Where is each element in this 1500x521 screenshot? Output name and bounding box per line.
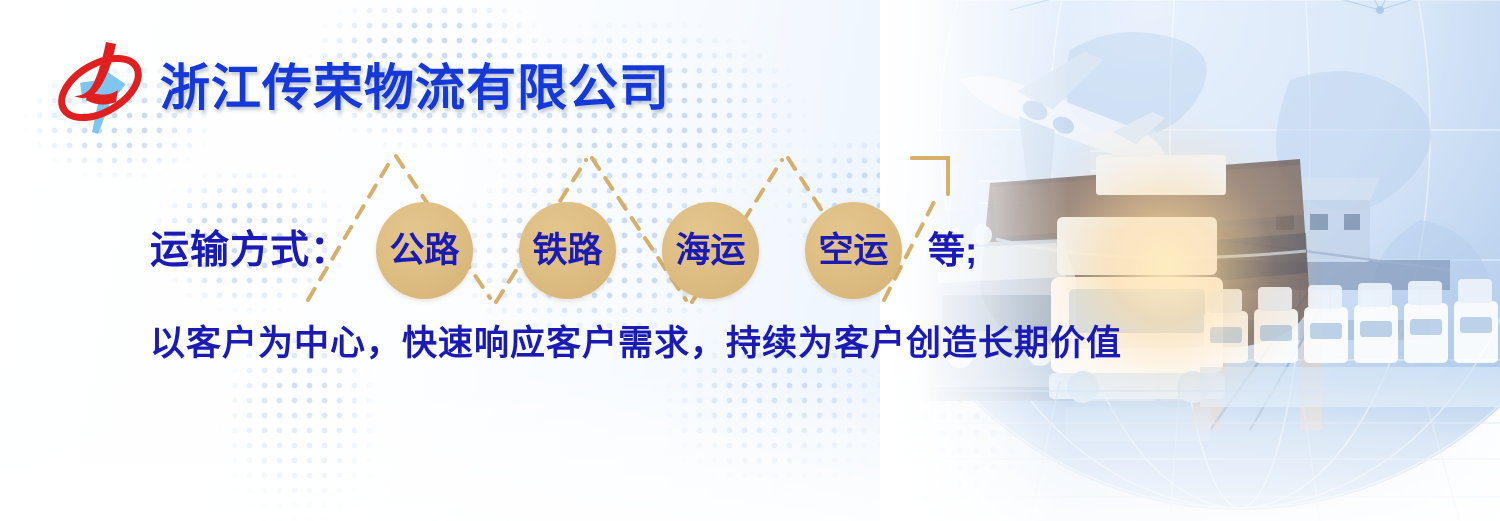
mode-circle-sea[interactable]: 海运 — [662, 202, 759, 299]
transport-circles: 公路 铁路 海运 空运 — [376, 202, 902, 299]
ground-grid-icon — [880, 351, 1500, 521]
transport-modes-row: 运输方式： 公路 铁路 海运 空运 等; — [150, 200, 977, 300]
transport-suffix: 等; — [928, 232, 977, 269]
mode-label-air: 空运 — [819, 233, 889, 268]
transport-label: 运输方式： — [150, 231, 350, 270]
mode-label-sea: 海运 — [676, 233, 746, 268]
mode-circle-rail[interactable]: 铁路 — [519, 202, 616, 299]
mode-circle-road[interactable]: 公路 — [376, 202, 473, 299]
logistics-banner: 浙江传荣物流有限公司 运输方式： 公路 铁路 — [0, 0, 1500, 521]
page-title: 浙江传荣物流有限公司 — [160, 63, 670, 113]
mode-circle-air[interactable]: 空运 — [805, 202, 902, 299]
mode-label-rail: 铁路 — [533, 233, 603, 268]
mode-label-road: 公路 — [390, 233, 460, 268]
brand-block: 浙江传荣物流有限公司 — [48, 36, 670, 140]
tagline: 以客户为中心，快速响应客户需求，持续为客户创造长期价值 — [150, 322, 1122, 366]
swoosh-arrow-logo — [48, 36, 152, 140]
